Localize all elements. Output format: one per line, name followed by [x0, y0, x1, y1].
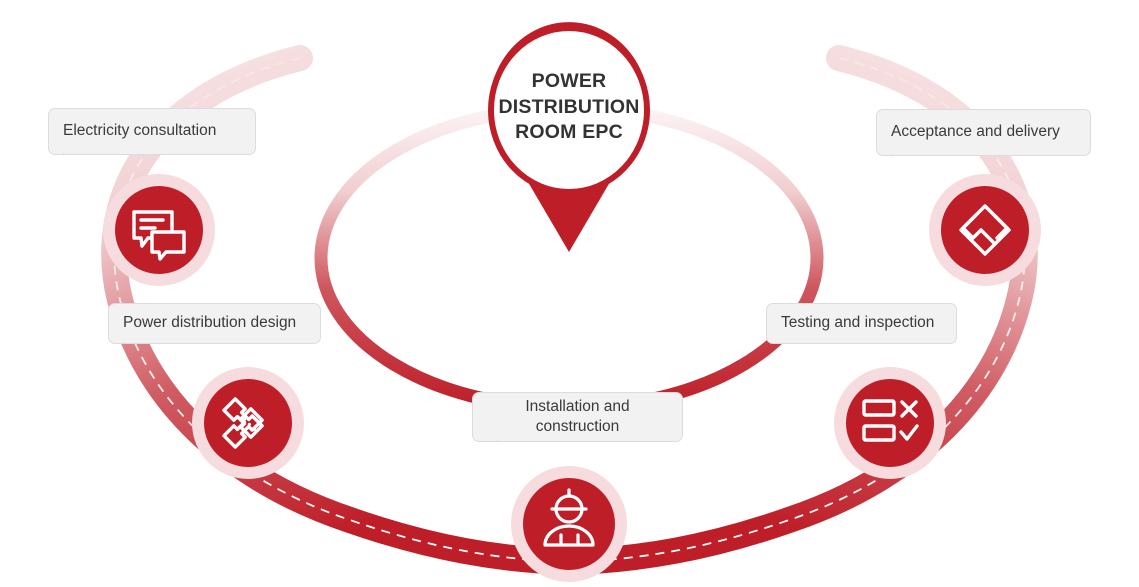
callout-tail [781, 342, 791, 357]
step-label-text: Acceptance and delivery [891, 122, 1060, 142]
node-disc [204, 379, 292, 467]
step-label-acceptance-and-delivery[interactable]: Acceptance and delivery [876, 109, 1091, 156]
node-electricity-consultation[interactable] [103, 174, 215, 286]
step-label-electricity-consultation[interactable]: Electricity consultation [48, 108, 256, 155]
node-disc [846, 379, 934, 467]
page-title-line-3: ROOM EPC [494, 120, 644, 146]
node-disc [941, 186, 1029, 274]
node-installation-and-construction[interactable] [511, 466, 627, 582]
page-title-line-2: DISTRIBUTION [494, 95, 644, 121]
step-label-testing-and-inspection[interactable]: Testing and inspection [766, 303, 957, 344]
node-power-distribution-design[interactable] [192, 367, 304, 479]
callout-tail [497, 440, 507, 455]
step-label-installation-and-construction[interactable]: Installation and construction [472, 392, 683, 442]
callout-tail [891, 154, 901, 169]
step-label-text: Electricity consultation [63, 121, 216, 141]
node-testing-and-inspection[interactable] [834, 367, 946, 479]
node-disc [115, 186, 203, 274]
step-label-text: Power distribution design [123, 313, 296, 333]
step-label-power-distribution-design[interactable]: Power distribution design [108, 303, 321, 344]
callout-tail [123, 342, 133, 357]
step-label-text-line-1: Installation and [525, 397, 629, 417]
step-label-text-line-2: construction [536, 417, 620, 437]
callout-tail [63, 153, 73, 168]
infographic-canvas: POWER DISTRIBUTION ROOM EPC Electricity … [0, 0, 1139, 587]
page-title-line-1: POWER [494, 69, 644, 95]
step-label-text: Testing and inspection [781, 313, 934, 333]
node-acceptance-and-delivery[interactable] [929, 174, 1041, 286]
page-title: POWER DISTRIBUTION ROOM EPC [494, 69, 644, 146]
